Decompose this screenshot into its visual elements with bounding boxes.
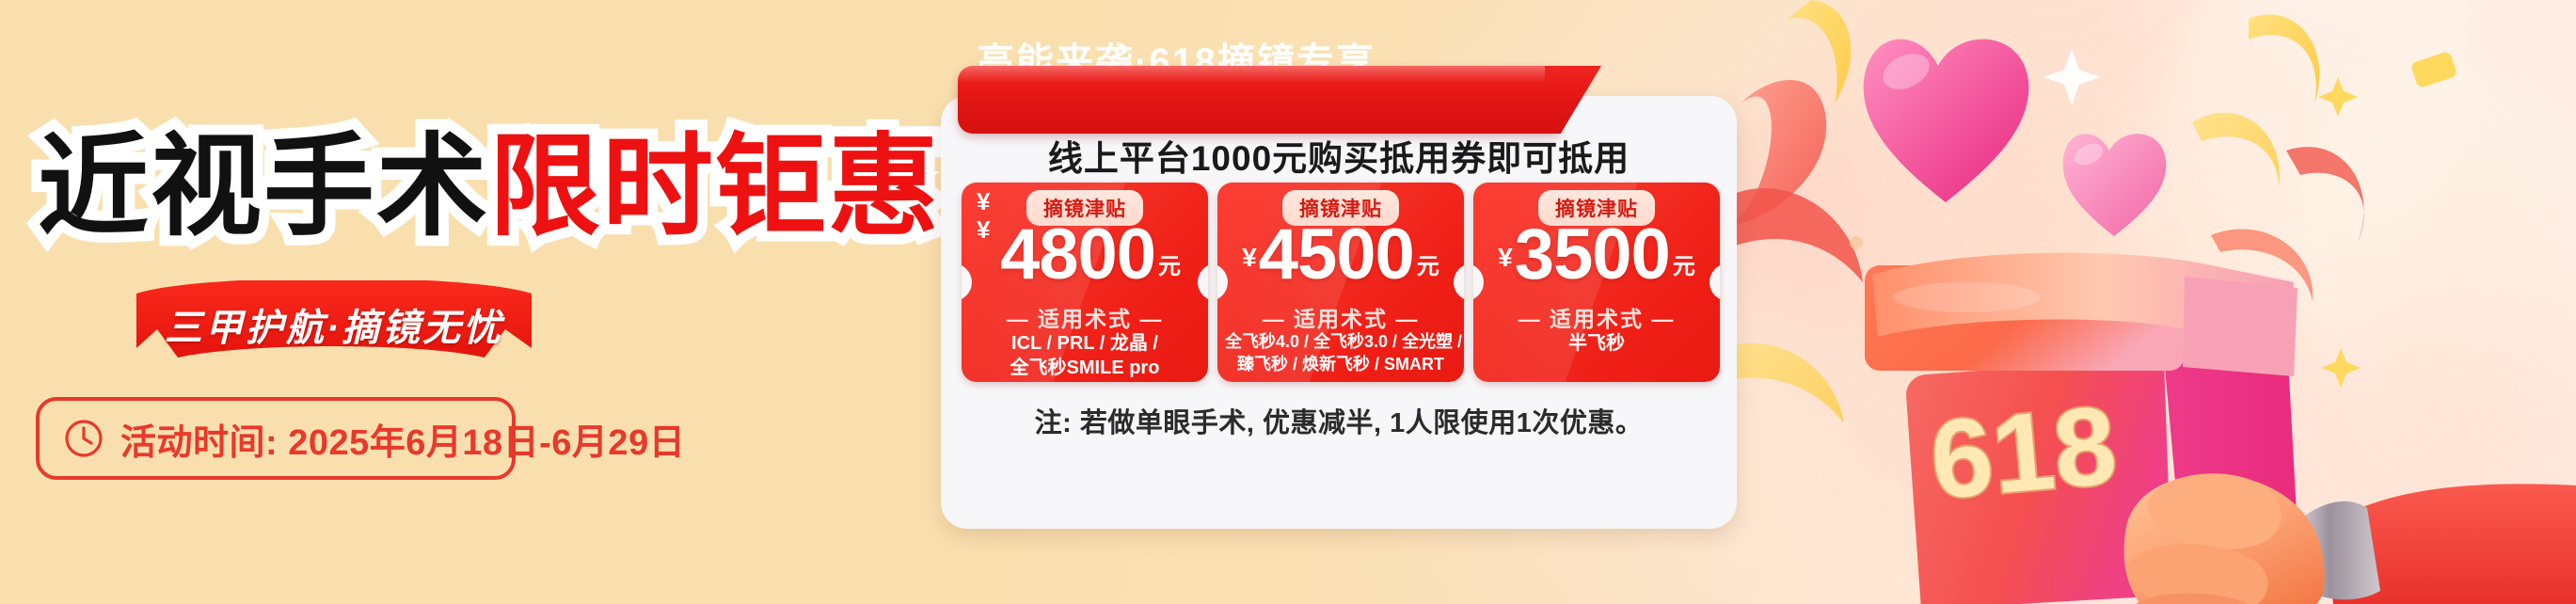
left-content-block: 近视手术限时钜惠 三甲护航·摘镜无忧 活动时间 (0, 0, 941, 604)
heart-icon (1864, 40, 2029, 202)
coupon-amount: 4500 (1259, 222, 1414, 288)
subtitle-ribbon: 三甲护航·摘镜无忧 (136, 280, 532, 358)
coupon-amount: 3500 (1515, 222, 1670, 288)
offer-card: 高能来袭·618摘镜专享 线上平台1000元购买抵用券即可抵用 摘镜津贴 ¥ ¥… (941, 24, 1750, 551)
coupon-surgery-line: 全飞秒SMILE pro (969, 356, 1201, 380)
coupon-currency-top: ¥ (977, 188, 990, 216)
headline-black-text: 近视手术 (38, 125, 489, 249)
hand-icon (2124, 473, 2576, 604)
coupon-price-row: 4800 元 (967, 222, 1208, 288)
coupon-surgery-line: ICL / PRL / 龙晶 / (969, 331, 1201, 356)
coupon-applicable-label: — 适用术式 — (1473, 301, 1720, 333)
event-date-badge: 活动时间: 2025年6月18日-6月29日 (36, 397, 516, 480)
heart-icon (2063, 134, 2167, 236)
event-date-text: 活动时间: 2025年6月18日-6月29日 (120, 413, 685, 465)
coupon-unit: 元 (1158, 247, 1181, 280)
coupon-price-row: ¥ 4500 元 (1217, 222, 1464, 288)
offer-card-subtitle: 线上平台1000元购买抵用券即可抵用 (941, 130, 1737, 181)
coupon-unit: 元 (1417, 247, 1439, 280)
coupon-surgery-list: ICL / PRL / 龙晶 / 全飞秒SMILE pro (962, 331, 1208, 381)
coupon-card[interactable]: 摘镜津贴 ¥ ¥ 4800 元 — 适用术式 — ICL / PRL / 龙晶 … (962, 183, 1208, 382)
coupon-surgery-line: 半飞秒 (1481, 331, 1712, 356)
coupon-currency: ¥ (1242, 243, 1257, 273)
headline-red-text: 限时钜惠 (489, 125, 941, 249)
coupon-unit: 元 (1673, 247, 1695, 280)
clock-icon (64, 419, 103, 458)
gift-box-label: 618 (1926, 383, 2122, 523)
coupon-surgery-list: 半飞秒 (1473, 331, 1720, 356)
page-title: 近视手术限时钜惠 (38, 132, 941, 243)
offer-card-note: 注: 若做单眼手术, 优惠减半, 1人限使用1次优惠。 (941, 401, 1737, 440)
coupon-card[interactable]: 摘镜津贴 ¥ 3500 元 — 适用术式 — 半飞秒 (1473, 183, 1720, 382)
gift-illustration: 618 (1722, 0, 2576, 604)
coupon-surgery-line: 臻飞秒 / 焕新飞秒 / SMART (1225, 354, 1456, 376)
coupon-price-row: ¥ 3500 元 (1473, 222, 1720, 288)
promo-banner: 近视手术限时钜惠 三甲护航·摘镜无忧 活动时间 (0, 0, 2576, 604)
offer-card-header (958, 66, 1560, 134)
coupon-applicable-label: — 适用术式 — (962, 301, 1208, 333)
coupon-list: 摘镜津贴 ¥ ¥ 4800 元 — 适用术式 — ICL / PRL / 龙晶 … (962, 183, 1720, 382)
coupon-surgery-list: 全飞秒4.0 / 全飞秒3.0 / 全光塑 / 臻飞秒 / 焕新飞秒 / SMA… (1217, 331, 1464, 376)
subtitle-ribbon-text: 三甲护航·摘镜无忧 (136, 286, 532, 363)
coupon-currency: ¥ (1498, 243, 1513, 273)
coupon-applicable-label: — 适用术式 — (1217, 301, 1464, 333)
coupon-amount: 4800 (1000, 222, 1155, 288)
coupon-card[interactable]: 摘镜津贴 ¥ 4500 元 — 适用术式 — 全飞秒4.0 / 全飞秒3.0 /… (1217, 183, 1464, 382)
coupon-surgery-line: 全飞秒4.0 / 全飞秒3.0 / 全光塑 / (1225, 331, 1456, 354)
